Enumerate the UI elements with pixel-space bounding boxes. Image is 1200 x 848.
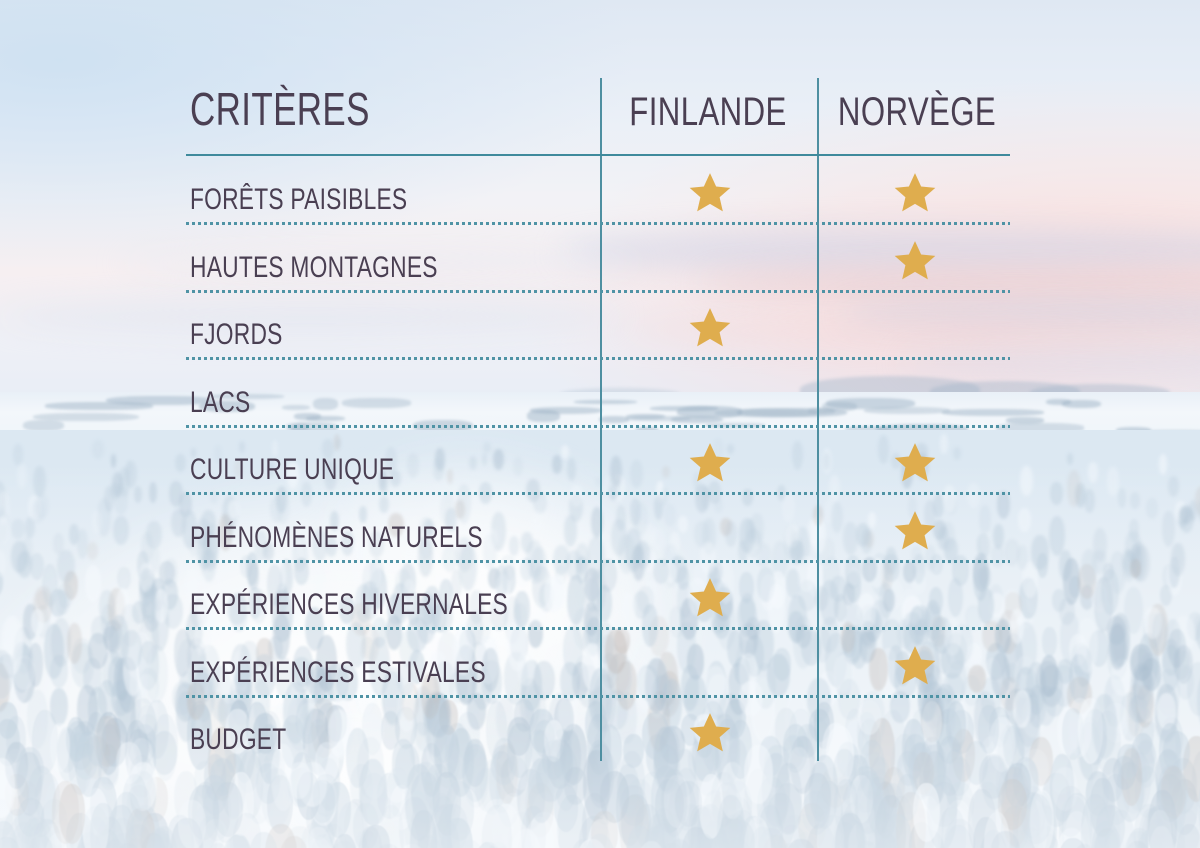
row-label: EXPÉRIENCES HIVERNALES [190, 590, 508, 620]
row-label: PHÉNOMÈNES NATURELS [190, 523, 483, 553]
star-icon [687, 170, 733, 216]
star-icon [687, 305, 733, 351]
star-icon [687, 440, 733, 486]
star-icon [687, 575, 733, 621]
column-divider-criteria-finlande [600, 78, 602, 761]
row-divider [186, 492, 1010, 495]
row-label: LACS [190, 388, 250, 418]
column-divider-finlande-norvege [817, 78, 819, 761]
row-label: FJORDS [190, 320, 283, 350]
header-rule [186, 154, 1010, 156]
star-icon [892, 170, 938, 216]
star-icon [892, 508, 938, 554]
column-header-finlande: FINLANDE [629, 92, 786, 132]
row-divider [186, 222, 1010, 225]
comparison-table: CRITÈRES FINLANDE NORVÈGE FORÊTS PAISIBL… [0, 0, 1200, 848]
row-divider [186, 560, 1010, 563]
row-label: FORÊTS PAISIBLES [190, 185, 407, 215]
row-divider [186, 357, 1010, 360]
star-icon [892, 440, 938, 486]
row-label: HAUTES MONTAGNES [190, 253, 438, 283]
row-divider [186, 290, 1010, 293]
column-header-norvege: NORVÈGE [838, 92, 996, 132]
column-header-criteria: CRITÈRES [190, 86, 370, 132]
star-icon [892, 643, 938, 689]
star-icon [892, 238, 938, 284]
row-label: EXPÉRIENCES ESTIVALES [190, 658, 486, 688]
row-divider [186, 695, 1010, 698]
row-divider [186, 425, 1010, 428]
row-label: CULTURE UNIQUE [190, 455, 394, 485]
star-icon [687, 710, 733, 756]
row-divider [186, 627, 1010, 630]
row-label: BUDGET [190, 725, 286, 755]
